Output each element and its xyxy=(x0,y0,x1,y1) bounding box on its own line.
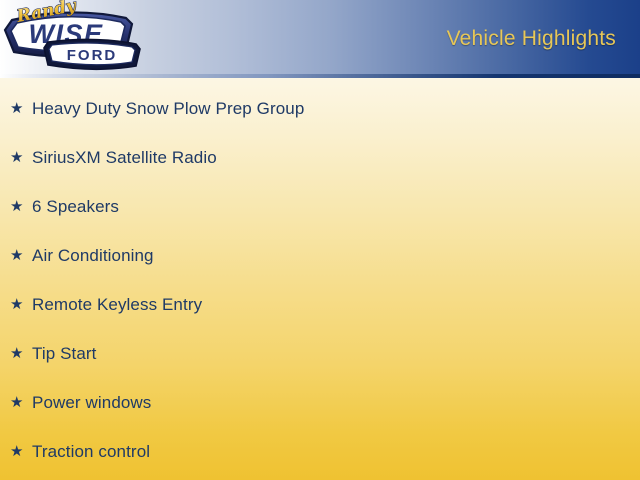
list-item-label: Tip Start xyxy=(32,344,97,364)
list-item: ★ Remote Keyless Entry xyxy=(0,280,640,329)
star-bullet-icon: ★ xyxy=(8,395,32,410)
logo-ford-text: FORD xyxy=(67,47,118,64)
star-bullet-icon: ★ xyxy=(8,199,32,214)
list-item: ★ Tip Start xyxy=(0,329,640,378)
list-item: ★ Traction control xyxy=(0,427,640,476)
list-item: ★ 6 Speakers xyxy=(0,182,640,231)
logo-ford-banner: FORD xyxy=(44,39,140,69)
list-item-label: 6 Speakers xyxy=(32,197,119,217)
list-item-label: Remote Keyless Entry xyxy=(32,295,202,315)
star-bullet-icon: ★ xyxy=(8,150,32,165)
list-item-label: Power windows xyxy=(32,393,151,413)
star-bullet-icon: ★ xyxy=(8,297,32,312)
logo-graphic: WISE FORD Randy xyxy=(0,0,148,78)
vehicle-highlights-list: ★ Heavy Duty Snow Plow Prep Group ★ Siri… xyxy=(0,78,640,476)
randy-wise-ford-logo: WISE FORD Randy xyxy=(0,0,148,78)
page-header: WISE FORD Randy Vehicle Highlights xyxy=(0,0,640,78)
list-item: ★ Heavy Duty Snow Plow Prep Group xyxy=(0,78,640,133)
list-item-label: Traction control xyxy=(32,442,150,462)
star-bullet-icon: ★ xyxy=(8,101,32,116)
list-item-label: SiriusXM Satellite Radio xyxy=(32,148,217,168)
list-item-label: Air Conditioning xyxy=(32,246,154,266)
list-item-label: Heavy Duty Snow Plow Prep Group xyxy=(32,99,304,119)
list-item: ★ Air Conditioning xyxy=(0,231,640,280)
star-bullet-icon: ★ xyxy=(8,346,32,361)
star-bullet-icon: ★ xyxy=(8,248,32,263)
list-item: ★ SiriusXM Satellite Radio xyxy=(0,133,640,182)
page-title: Vehicle Highlights xyxy=(447,27,616,51)
star-bullet-icon: ★ xyxy=(8,444,32,459)
list-item: ★ Power windows xyxy=(0,378,640,427)
vehicle-highlights-page: WISE FORD Randy Vehicle Highlights ★ Hea… xyxy=(0,0,640,480)
